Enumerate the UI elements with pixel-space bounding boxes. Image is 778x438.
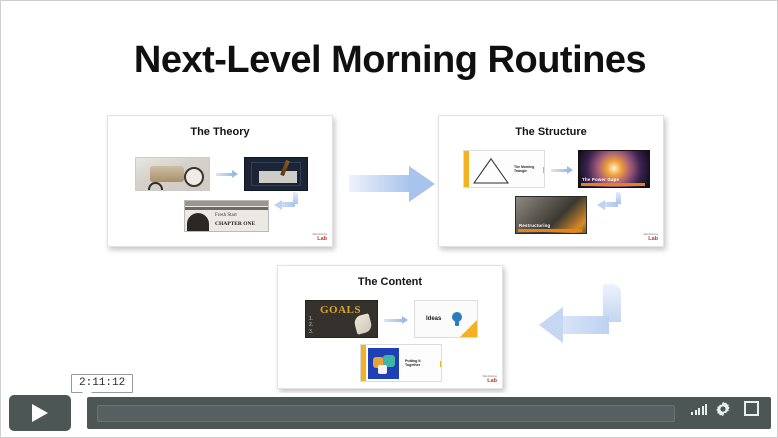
arrow-structure-to-content bbox=[539, 284, 625, 346]
panel-the-structure[interactable]: The Structure The Morning Triangle The P… bbox=[438, 115, 664, 247]
thumb-putting-it-together-slide[interactable]: Putting It Together bbox=[360, 344, 442, 382]
mini-arrow-content-1 bbox=[384, 316, 408, 324]
video-player[interactable]: Next-Level Morning Routines The Theory bbox=[0, 0, 778, 438]
accent-bar-left bbox=[464, 151, 469, 187]
clock-body bbox=[150, 166, 184, 182]
accent-tab-right bbox=[543, 167, 545, 173]
clock-bell-left bbox=[148, 182, 163, 191]
seek-track[interactable] bbox=[97, 405, 675, 422]
thumb-morning-triangle-diagram[interactable]: The Morning Triangle bbox=[463, 150, 545, 188]
panel-title-structure: The Structure bbox=[439, 126, 663, 138]
thumb-vintage-clock-photo[interactable] bbox=[135, 157, 210, 191]
panel-logo-bottom-structure: Lab bbox=[644, 237, 658, 243]
panel-the-content[interactable]: The Content GOALS 1. 2. 3. Ideas bbox=[277, 265, 503, 389]
play-icon bbox=[32, 404, 48, 422]
paper bbox=[259, 171, 297, 183]
thumb-caption-putting-it-together: Putting It Together bbox=[405, 359, 433, 368]
thumb-dark-writing-photo[interactable] bbox=[244, 157, 308, 191]
timestamp-tooltip: 2:11:12 bbox=[71, 374, 133, 393]
accent-tab-right bbox=[440, 361, 442, 367]
panel-logo-theory: Manifesting Lab bbox=[313, 234, 327, 242]
thumb-caption-fresh-start: Fresh Start bbox=[215, 213, 237, 218]
goals-text: GOALS bbox=[320, 304, 361, 316]
hand-shape bbox=[353, 313, 373, 335]
accent-bar-left bbox=[361, 345, 366, 381]
thumb-caption-power-gaps: The Power Gaps bbox=[582, 177, 619, 182]
mini-elbow-structure bbox=[597, 192, 623, 212]
arrow-theory-to-structure bbox=[349, 166, 435, 202]
arch-shape bbox=[187, 213, 209, 232]
thumb-caption-chapter-one: CHAPTER ONE bbox=[215, 221, 255, 227]
fullscreen-icon[interactable] bbox=[744, 401, 759, 416]
corner-accent bbox=[460, 320, 477, 337]
stripe-2 bbox=[185, 207, 268, 210]
thumb-ideas-slide[interactable]: Ideas bbox=[414, 300, 478, 338]
panel-the-theory[interactable]: The Theory Fresh Start bbox=[107, 115, 333, 247]
thumb-fresh-start-chapter-one[interactable]: Fresh Start CHAPTER ONE bbox=[184, 200, 269, 232]
stripe-top bbox=[185, 201, 268, 206]
play-button[interactable] bbox=[9, 395, 71, 431]
accent-bar-bottom bbox=[518, 229, 582, 232]
mini-arrow-theory-1 bbox=[216, 170, 238, 178]
thumb-power-gaps-slide[interactable]: The Power Gaps bbox=[578, 150, 650, 188]
gear-icon[interactable] bbox=[715, 401, 731, 417]
goals-list: 1. 2. 3. bbox=[309, 316, 313, 335]
seek-bar[interactable] bbox=[87, 397, 771, 429]
clock-face bbox=[184, 167, 204, 187]
player-controls[interactable]: 2:11:12 bbox=[1, 393, 778, 437]
triangle-outline-icon bbox=[471, 156, 511, 186]
thumb-caption-ideas: Ideas bbox=[426, 316, 441, 322]
thumb-caption-triangle: The Morning Triangle bbox=[514, 165, 540, 174]
thumb-goals-blackboard[interactable]: GOALS 1. 2. 3. bbox=[305, 300, 378, 338]
volume-icon[interactable] bbox=[691, 403, 707, 415]
panel-logo-structure: Manifesting Lab bbox=[644, 234, 658, 242]
thumb-restructuring-slide[interactable]: Restructuring bbox=[515, 196, 587, 234]
page-title: Next-Level Morning Routines bbox=[1, 39, 778, 82]
panel-title-theory: The Theory bbox=[108, 126, 332, 138]
mini-elbow-theory bbox=[274, 192, 300, 212]
mini-arrow-structure-1 bbox=[551, 166, 573, 174]
accent-bar-bottom bbox=[581, 183, 645, 186]
thumb-caption-restructuring: Restructuring bbox=[519, 223, 550, 228]
panel-logo-content: Manifesting Lab bbox=[483, 376, 497, 384]
panel-logo-bottom-theory: Lab bbox=[313, 237, 327, 243]
puzzle-image bbox=[368, 348, 399, 379]
panel-logo-bottom-content: Lab bbox=[483, 379, 497, 385]
panel-title-content: The Content bbox=[278, 276, 502, 288]
video-slide-stage[interactable]: Next-Level Morning Routines The Theory bbox=[1, 1, 778, 393]
